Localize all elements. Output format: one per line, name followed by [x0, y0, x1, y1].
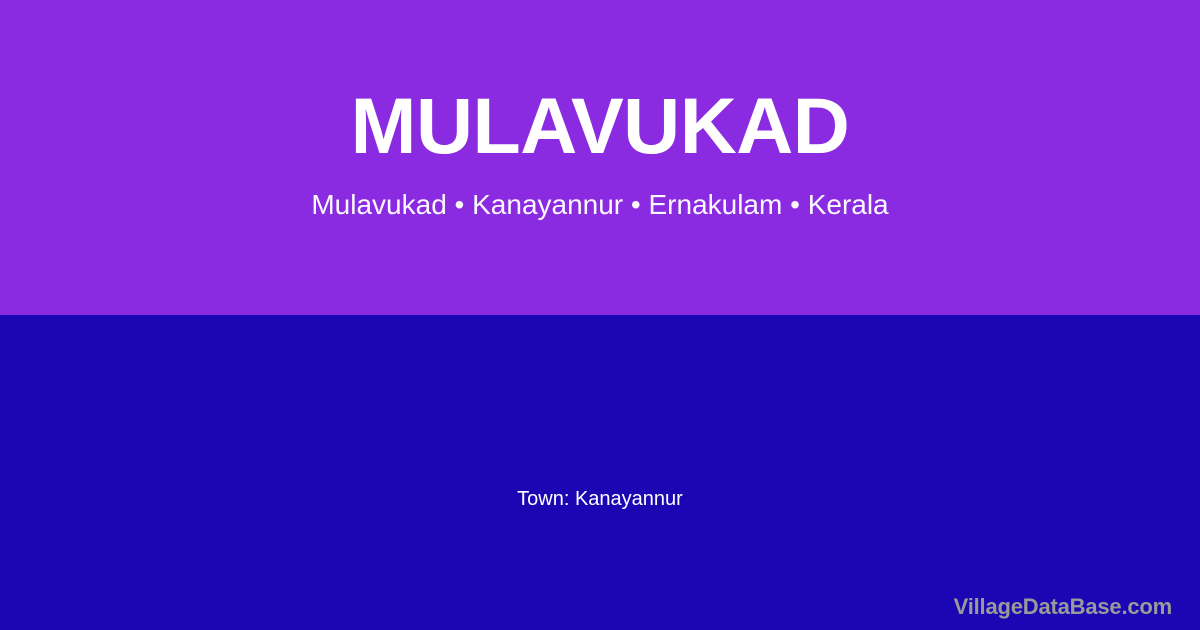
- site-watermark: VillageDataBase.com: [954, 596, 1172, 618]
- page-title: MULAVUKAD: [0, 86, 1200, 165]
- village-info-card: MULAVUKAD Mulavukad • Kanayannur • Ernak…: [0, 0, 1200, 630]
- hero-banner: MULAVUKAD Mulavukad • Kanayannur • Ernak…: [0, 0, 1200, 315]
- town-fact: Town: Kanayannur: [0, 489, 1200, 509]
- detail-panel: Town: Kanayannur VillageDataBase.com: [0, 315, 1200, 630]
- breadcrumb: Mulavukad • Kanayannur • Ernakulam • Ker…: [0, 191, 1200, 219]
